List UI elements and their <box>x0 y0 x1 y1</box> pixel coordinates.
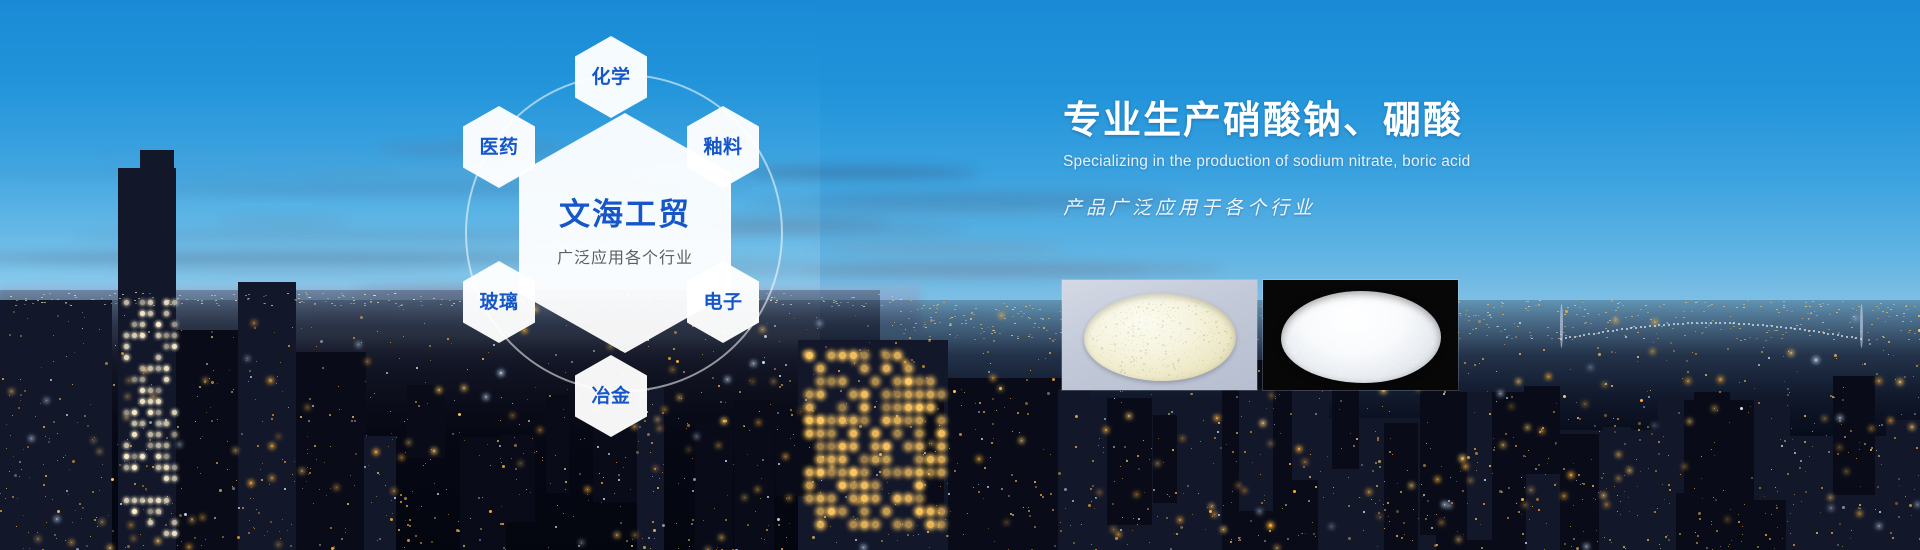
powder-grain <box>1298 320 1299 321</box>
powder-grain <box>1208 322 1209 323</box>
powder-grain <box>1133 332 1134 333</box>
powder-grain <box>1415 325 1416 326</box>
powder-grain <box>1364 319 1366 321</box>
powder-grain <box>1355 328 1357 330</box>
powder-grain <box>1353 297 1354 298</box>
powder-grain <box>1158 324 1159 325</box>
powder-grain <box>1154 377 1155 378</box>
powder-grain <box>1122 317 1123 318</box>
powder-grain <box>1186 350 1187 351</box>
powder-grain <box>1289 342 1290 343</box>
powder-grain <box>1407 341 1408 342</box>
powder-grain <box>1200 331 1201 332</box>
powder-grain <box>1122 348 1123 349</box>
powder-grain <box>1195 313 1197 315</box>
powder-grain <box>1094 346 1095 347</box>
powder-grain <box>1423 344 1424 345</box>
powder-grain <box>1173 366 1175 368</box>
powder-grain <box>1204 322 1206 324</box>
powder-grain <box>1150 369 1151 370</box>
powder-grain <box>1121 361 1123 363</box>
powder-grain <box>1354 319 1355 320</box>
powder-grain <box>1203 313 1204 314</box>
powder-grain <box>1109 334 1110 335</box>
powder-grain <box>1152 378 1153 379</box>
powder-grain <box>1197 338 1198 339</box>
powder-grain <box>1162 327 1163 328</box>
powder-grain <box>1377 333 1378 334</box>
powder-grain <box>1133 365 1134 366</box>
powder-grain <box>1298 345 1299 346</box>
powder-grain <box>1190 349 1191 350</box>
powder-grain <box>1373 303 1374 304</box>
powder-grain <box>1117 328 1118 329</box>
powder-grain <box>1379 376 1380 377</box>
powder-grain <box>1348 299 1349 300</box>
powder-grain <box>1215 321 1217 323</box>
powder-grain <box>1365 334 1366 335</box>
powder-grain <box>1403 334 1404 335</box>
powder-grain <box>1180 335 1181 336</box>
powder-grain <box>1131 343 1132 344</box>
powder-grain <box>1314 317 1315 318</box>
powder-grain <box>1411 330 1412 331</box>
powder-grain <box>1166 324 1167 325</box>
powder-grain <box>1370 350 1372 352</box>
powder-grain <box>1321 373 1322 374</box>
powder-grain <box>1391 360 1392 361</box>
powder-grain <box>1144 323 1145 324</box>
powder-grain <box>1343 361 1344 362</box>
powder-grain <box>1150 315 1151 316</box>
powder-grain <box>1387 353 1388 354</box>
powder-grain <box>1423 316 1424 317</box>
powder-grain <box>1101 348 1103 350</box>
powder-grain <box>1395 341 1396 342</box>
product-photo-boric-acid[interactable] <box>1263 280 1458 390</box>
powder-grain <box>1230 337 1232 339</box>
powder-grain <box>1380 297 1381 298</box>
powder-grain <box>1136 357 1137 358</box>
powder-grain <box>1116 323 1118 325</box>
powder-grain <box>1129 309 1130 310</box>
powder-grain <box>1096 336 1097 337</box>
powder-grain <box>1100 324 1101 325</box>
powder-grain <box>1332 336 1333 337</box>
powder-grain <box>1422 341 1424 343</box>
powder-grain <box>1119 366 1120 367</box>
powder-grain <box>1196 346 1197 347</box>
powder-grain <box>1347 373 1348 374</box>
powder-grain <box>1381 378 1382 379</box>
powder-grain <box>1377 376 1378 377</box>
powder-grain <box>1296 335 1297 336</box>
powder-grain <box>1416 334 1417 335</box>
powder-grain <box>1399 313 1400 314</box>
powder-grain <box>1159 311 1160 312</box>
powder-grain <box>1145 366 1146 367</box>
powder-grain <box>1159 318 1160 319</box>
powder-grain <box>1326 321 1327 322</box>
powder-grain <box>1163 313 1164 314</box>
powder-grain <box>1175 321 1176 322</box>
powder-grain <box>1155 373 1156 374</box>
powder-grain <box>1333 352 1334 353</box>
hex-label: 玻璃 <box>479 293 518 312</box>
powder-grain <box>1341 308 1342 309</box>
powder-grain <box>1333 315 1334 316</box>
powder-grain <box>1098 317 1099 318</box>
powder-grain <box>1408 314 1409 315</box>
powder-grain <box>1164 377 1165 378</box>
powder-grain <box>1295 338 1296 339</box>
powder-grain <box>1146 375 1147 376</box>
powder-grain <box>1397 333 1399 335</box>
powder-grain <box>1359 332 1360 333</box>
powder-grain <box>1101 356 1102 357</box>
powder-grain <box>1371 324 1372 325</box>
powder-grain <box>1178 373 1179 374</box>
powder-grain <box>1371 370 1372 371</box>
powder-grain <box>1163 337 1164 338</box>
powder-grain <box>1400 326 1402 328</box>
powder-grain <box>1171 339 1172 340</box>
hex-label: 电子 <box>703 293 742 312</box>
powder-grain <box>1131 313 1132 314</box>
powder-grain <box>1191 334 1192 335</box>
powder-grain <box>1361 337 1362 338</box>
powder-grain <box>1400 307 1401 308</box>
powder-grain <box>1124 366 1125 367</box>
powder-grain <box>1130 316 1131 317</box>
powder-grain <box>1133 357 1134 358</box>
powder-grain <box>1226 328 1227 329</box>
powder-grain <box>1152 322 1153 323</box>
powder-grain <box>1126 356 1127 357</box>
powder-grain <box>1407 309 1409 311</box>
powder-grain <box>1181 323 1182 324</box>
powder-grain <box>1399 301 1400 302</box>
powder-grain <box>1401 372 1402 373</box>
powder-grain <box>1300 324 1301 325</box>
powder-grain <box>1367 295 1368 296</box>
powder-grain <box>1410 342 1412 344</box>
powder-grain <box>1220 357 1222 359</box>
powder-grain <box>1123 322 1124 323</box>
powder-grain <box>1161 301 1162 302</box>
powder-grain <box>1345 325 1346 326</box>
powder-grain <box>1229 345 1230 346</box>
powder-grain <box>1212 340 1213 341</box>
powder-grain <box>1163 300 1164 301</box>
powder-grain <box>1386 360 1387 361</box>
powder-grain <box>1373 374 1374 375</box>
powder-grain <box>1200 337 1201 338</box>
powder-grain <box>1147 344 1148 345</box>
company-tagline: 广泛应用各个行业 <box>557 244 693 268</box>
product-photo-sodium-nitrate[interactable] <box>1062 280 1257 390</box>
powder-grain <box>1138 328 1140 330</box>
powder-grain <box>1177 307 1179 309</box>
powder-grain <box>1223 351 1224 352</box>
powder-grain <box>1337 301 1338 302</box>
powder-grain <box>1173 351 1174 352</box>
powder-grain <box>1367 350 1368 351</box>
powder-grain <box>1115 314 1116 315</box>
powder-grain <box>1124 323 1125 324</box>
powder-grain <box>1138 376 1139 377</box>
powder-grain <box>1368 315 1369 316</box>
powder-grain <box>1339 371 1340 372</box>
powder-grain <box>1414 349 1415 350</box>
powder-grain <box>1100 354 1101 355</box>
powder-grain <box>1166 351 1167 352</box>
powder-grain <box>1213 359 1214 360</box>
powder-grain <box>1335 339 1336 340</box>
powder-grain <box>1289 346 1290 347</box>
powder-grain <box>1137 326 1138 327</box>
powder-grain <box>1150 372 1151 373</box>
powder-grain <box>1115 345 1116 346</box>
powder-grain <box>1381 317 1382 318</box>
powder-grain <box>1166 371 1167 372</box>
powder-grain <box>1346 306 1347 307</box>
powder-grain <box>1181 339 1182 340</box>
powder-grain <box>1145 363 1146 364</box>
powder-grain <box>1321 341 1322 342</box>
powder-grain <box>1111 355 1112 356</box>
powder-grain <box>1392 373 1393 374</box>
powder-grain <box>1391 308 1392 309</box>
powder-grain <box>1388 349 1390 351</box>
powder-grain <box>1110 350 1111 351</box>
powder-grain <box>1391 365 1392 366</box>
powder-grain <box>1356 309 1357 310</box>
powder-grain <box>1172 321 1173 322</box>
powder-grain <box>1138 337 1139 338</box>
powder-grain <box>1318 338 1319 339</box>
powder-grain <box>1297 317 1298 318</box>
powder-grain <box>1182 373 1183 374</box>
powder-grain <box>1109 360 1110 361</box>
powder-grain <box>1130 327 1131 328</box>
powder-grain <box>1311 366 1312 367</box>
powder-grain <box>1339 373 1340 374</box>
powder-grain <box>1148 354 1149 355</box>
powder-grain <box>1335 307 1336 308</box>
powder-grain <box>1391 326 1392 327</box>
powder-grain <box>1353 321 1354 322</box>
powder-grain <box>1354 375 1355 376</box>
powder-grain <box>1103 331 1104 332</box>
powder-grain <box>1124 350 1125 351</box>
powder-grain <box>1396 305 1397 306</box>
powder-grain <box>1155 304 1156 305</box>
powder-grain <box>1139 317 1140 318</box>
powder-grain <box>1306 358 1307 359</box>
powder-grain <box>1358 342 1359 343</box>
powder-grain <box>1335 354 1336 355</box>
powder-grain <box>1321 321 1322 322</box>
powder-grain <box>1135 306 1136 307</box>
powder-grain <box>1092 346 1093 347</box>
powder-grain <box>1387 307 1388 308</box>
powder-grain <box>1195 305 1197 307</box>
powder-grain <box>1337 349 1338 350</box>
powder-grain <box>1211 350 1212 351</box>
cityscape-foreground <box>0 300 1920 550</box>
company-name: 文海工贸 <box>559 198 691 232</box>
powder-grain <box>1093 340 1094 341</box>
powder-grain <box>1128 331 1129 332</box>
powder-grain <box>1397 317 1398 318</box>
powder-grain <box>1169 356 1170 357</box>
powder-grain <box>1133 323 1134 324</box>
powder-grain <box>1338 312 1339 313</box>
powder-grain <box>1111 344 1112 345</box>
promo-banner: 文海工贸 广泛应用各个行业 化学釉料电子冶金玻璃医药 专业生产硝酸钠、硼酸 Sp… <box>0 0 1920 550</box>
powder-grain <box>1377 324 1378 325</box>
powder-grain <box>1213 314 1214 315</box>
powder-grain <box>1416 361 1418 363</box>
powder-grain <box>1379 336 1381 338</box>
powder-grain <box>1300 317 1301 318</box>
powder-grain <box>1166 377 1167 378</box>
powder-grain <box>1092 349 1093 350</box>
powder-grain <box>1359 302 1360 303</box>
powder-grain <box>1150 311 1151 312</box>
powder-grain <box>1142 369 1144 371</box>
powder-grain <box>1357 340 1358 341</box>
powder-pile-white <box>1281 291 1441 383</box>
powder-grain <box>1349 377 1350 378</box>
powder-grain <box>1179 366 1180 367</box>
powder-grain <box>1199 360 1200 361</box>
powder-grain <box>1136 312 1137 313</box>
powder-grain <box>1103 352 1104 353</box>
powder-grain <box>1175 317 1176 318</box>
powder-grain <box>1305 340 1306 341</box>
powder-grain <box>1374 332 1375 333</box>
powder-grain <box>1420 315 1421 316</box>
powder-grain <box>1215 353 1216 354</box>
powder-grain <box>1323 312 1324 313</box>
powder-grain <box>1370 328 1371 329</box>
powder-grain <box>1185 341 1187 343</box>
powder-grain <box>1381 373 1382 374</box>
powder-grain <box>1175 311 1176 312</box>
powder-grain <box>1199 303 1200 304</box>
powder-grain <box>1203 360 1204 361</box>
powder-grain <box>1338 342 1339 343</box>
powder-grain <box>1144 335 1145 336</box>
powder-grain <box>1124 319 1125 320</box>
powder-grain <box>1170 317 1171 318</box>
powder-grain <box>1145 349 1147 351</box>
powder-grain <box>1173 315 1174 316</box>
powder-grain <box>1416 357 1417 358</box>
powder-grain <box>1341 323 1342 324</box>
powder-grain <box>1420 312 1421 313</box>
powder-grain <box>1319 315 1321 317</box>
powder-grain <box>1345 340 1346 341</box>
powder-grain <box>1139 322 1140 323</box>
powder-grain <box>1365 322 1366 323</box>
powder-grain <box>1218 332 1220 334</box>
hex-label: 冶金 <box>591 387 630 406</box>
powder-grain <box>1133 304 1134 305</box>
powder-grain <box>1165 297 1166 298</box>
powder-grain <box>1287 343 1288 344</box>
powder-grain <box>1358 349 1359 350</box>
powder-grain <box>1402 324 1403 325</box>
powder-grain <box>1394 326 1395 327</box>
powder-grain <box>1196 349 1197 350</box>
powder-grain <box>1163 359 1164 360</box>
powder-grain <box>1413 334 1414 335</box>
powder-grain <box>1359 304 1360 305</box>
powder-grain <box>1403 360 1404 361</box>
powder-grain <box>1159 372 1160 373</box>
powder-grain <box>1336 313 1338 315</box>
powder-grain <box>1293 333 1294 334</box>
powder-grain <box>1365 337 1367 339</box>
powder-grain <box>1163 303 1164 304</box>
powder-grain <box>1143 346 1144 347</box>
headline-subtitle-cn: 产品广泛应用于各个行业 <box>1063 193 1853 220</box>
powder-grain <box>1228 349 1229 350</box>
powder-grain <box>1193 342 1194 343</box>
powder-grain <box>1308 332 1309 333</box>
powder-grain <box>1120 371 1122 373</box>
powder-grain <box>1347 313 1348 314</box>
powder-grain <box>1392 364 1393 365</box>
powder-grain <box>1180 325 1181 326</box>
powder-grain <box>1431 323 1433 325</box>
powder-grain <box>1211 331 1212 332</box>
powder-grain <box>1356 313 1357 314</box>
powder-grain <box>1196 309 1197 310</box>
powder-grain <box>1145 313 1146 314</box>
powder-grain <box>1366 353 1367 354</box>
powder-grain <box>1125 357 1126 358</box>
powder-grain <box>1303 349 1305 351</box>
powder-grain <box>1413 313 1414 314</box>
powder-grain <box>1148 303 1150 305</box>
powder-grain <box>1336 298 1337 299</box>
powder-grain <box>1304 333 1305 334</box>
powder-grain <box>1427 344 1428 345</box>
powder-grain <box>1421 324 1422 325</box>
powder-grain <box>1293 335 1294 336</box>
powder-grain <box>1342 372 1343 373</box>
powder-grain <box>1415 319 1416 320</box>
powder-grain <box>1317 318 1318 319</box>
powder-grain <box>1314 314 1315 315</box>
powder-grain <box>1322 337 1323 338</box>
powder-grain <box>1097 340 1098 341</box>
powder-grain <box>1359 298 1361 300</box>
powder-grain <box>1156 368 1157 369</box>
powder-grain <box>1164 331 1165 332</box>
powder-grain <box>1340 351 1341 352</box>
powder-grain <box>1125 338 1126 339</box>
powder-grain <box>1339 320 1340 321</box>
powder-grain <box>1116 308 1117 309</box>
powder-grain <box>1161 324 1162 325</box>
powder-grain <box>1424 339 1425 340</box>
powder-grain <box>1407 344 1408 345</box>
